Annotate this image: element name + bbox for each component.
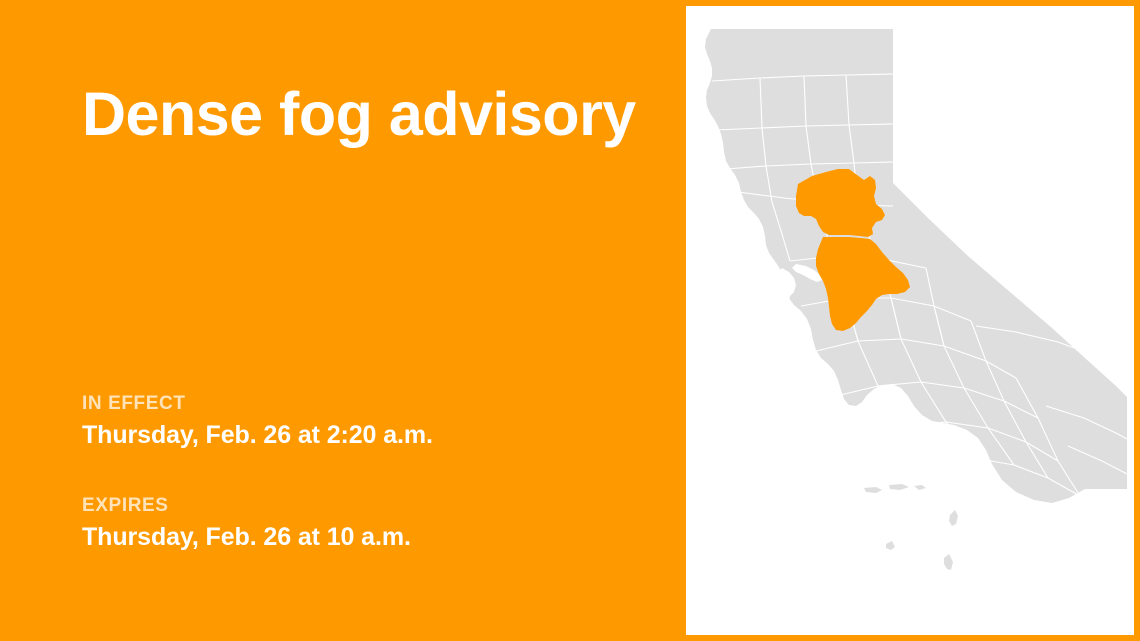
map-panel xyxy=(686,6,1134,635)
california-state-map-icon xyxy=(686,6,1134,635)
in-effect-label: IN EFFECT xyxy=(82,392,433,416)
expires-value: Thursday, Feb. 26 at 10 a.m. xyxy=(82,522,411,553)
in-effect-value: Thursday, Feb. 26 at 2:20 a.m. xyxy=(82,420,433,451)
channel-islands xyxy=(864,484,958,570)
expires-block: EXPIRES Thursday, Feb. 26 at 10 a.m. xyxy=(82,494,411,553)
page-title: Dense fog advisory xyxy=(82,82,636,146)
weather-advisory-graphic: Dense fog advisory IN EFFECT Thursday, F… xyxy=(0,0,1140,641)
alert-panel: Dense fog advisory IN EFFECT Thursday, F… xyxy=(0,0,684,641)
expires-label: EXPIRES xyxy=(82,494,411,518)
in-effect-block: IN EFFECT Thursday, Feb. 26 at 2:20 a.m. xyxy=(82,392,433,451)
